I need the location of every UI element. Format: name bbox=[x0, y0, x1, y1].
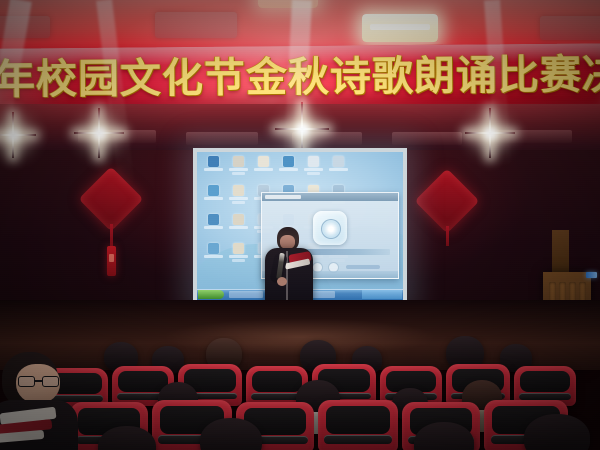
ceiling-panel-1 bbox=[155, 12, 237, 38]
desktop-icon[interactable] bbox=[201, 242, 226, 267]
knot-tassel bbox=[107, 246, 116, 276]
wall-slat-1 bbox=[78, 130, 156, 143]
glasses-lens-left bbox=[18, 376, 35, 387]
desktop-icon[interactable] bbox=[226, 155, 251, 180]
audience-head bbox=[524, 414, 590, 450]
knot-diamond-icon bbox=[78, 166, 143, 231]
event-banner: 年校园文化节金秋诗歌朗诵比赛决赛 bbox=[0, 43, 600, 110]
auditorium-photo: 年校园文化节金秋诗歌朗诵比赛决赛 bbox=[0, 0, 600, 450]
desktop-icon[interactable] bbox=[226, 213, 251, 238]
recessed-light-1 bbox=[362, 14, 438, 42]
desktop-icon[interactable] bbox=[201, 184, 226, 209]
recessed-light-2 bbox=[258, 0, 318, 8]
system-tray[interactable] bbox=[362, 290, 402, 299]
desktop-icon[interactable] bbox=[326, 155, 351, 180]
student-with-glasses bbox=[0, 352, 90, 450]
wall-slat-5 bbox=[496, 130, 572, 143]
glasses-bridge bbox=[35, 380, 42, 382]
seat[interactable] bbox=[318, 400, 398, 450]
chinese-knot-right bbox=[424, 178, 470, 224]
desktop-icon[interactable] bbox=[201, 213, 226, 238]
desktop-icon[interactable] bbox=[201, 155, 226, 180]
wall-slat-2 bbox=[186, 132, 258, 145]
knot-diamond-icon bbox=[414, 168, 479, 233]
desktop-icon[interactable] bbox=[276, 155, 301, 180]
desktop-icon[interactable] bbox=[226, 242, 251, 267]
knot-tail bbox=[446, 226, 449, 246]
wall-slat-4 bbox=[392, 132, 462, 145]
desktop-icon[interactable] bbox=[301, 155, 326, 180]
desktop-icon[interactable] bbox=[251, 155, 276, 180]
media-player-titlebar[interactable] bbox=[262, 193, 398, 201]
presenter-hand bbox=[277, 277, 287, 286]
glasses-icon bbox=[18, 376, 60, 387]
wall-slat-3 bbox=[292, 132, 362, 145]
glasses-lens-right bbox=[42, 376, 59, 387]
banner-title: 年校园文化节金秋诗歌朗诵比赛决赛 bbox=[0, 46, 600, 107]
ceiling-panel-2 bbox=[0, 16, 50, 38]
chinese-knot-left bbox=[88, 176, 134, 222]
desktop-icon[interactable] bbox=[226, 184, 251, 209]
wall-indicator-light bbox=[586, 272, 597, 278]
audience-seating bbox=[0, 336, 600, 450]
taskbar-item[interactable] bbox=[229, 291, 263, 298]
door-frame-column bbox=[552, 230, 569, 276]
ceiling-panel-3 bbox=[540, 16, 600, 40]
start-button[interactable] bbox=[198, 290, 224, 299]
presenter-face bbox=[280, 235, 295, 249]
volume-slider[interactable] bbox=[346, 265, 380, 269]
